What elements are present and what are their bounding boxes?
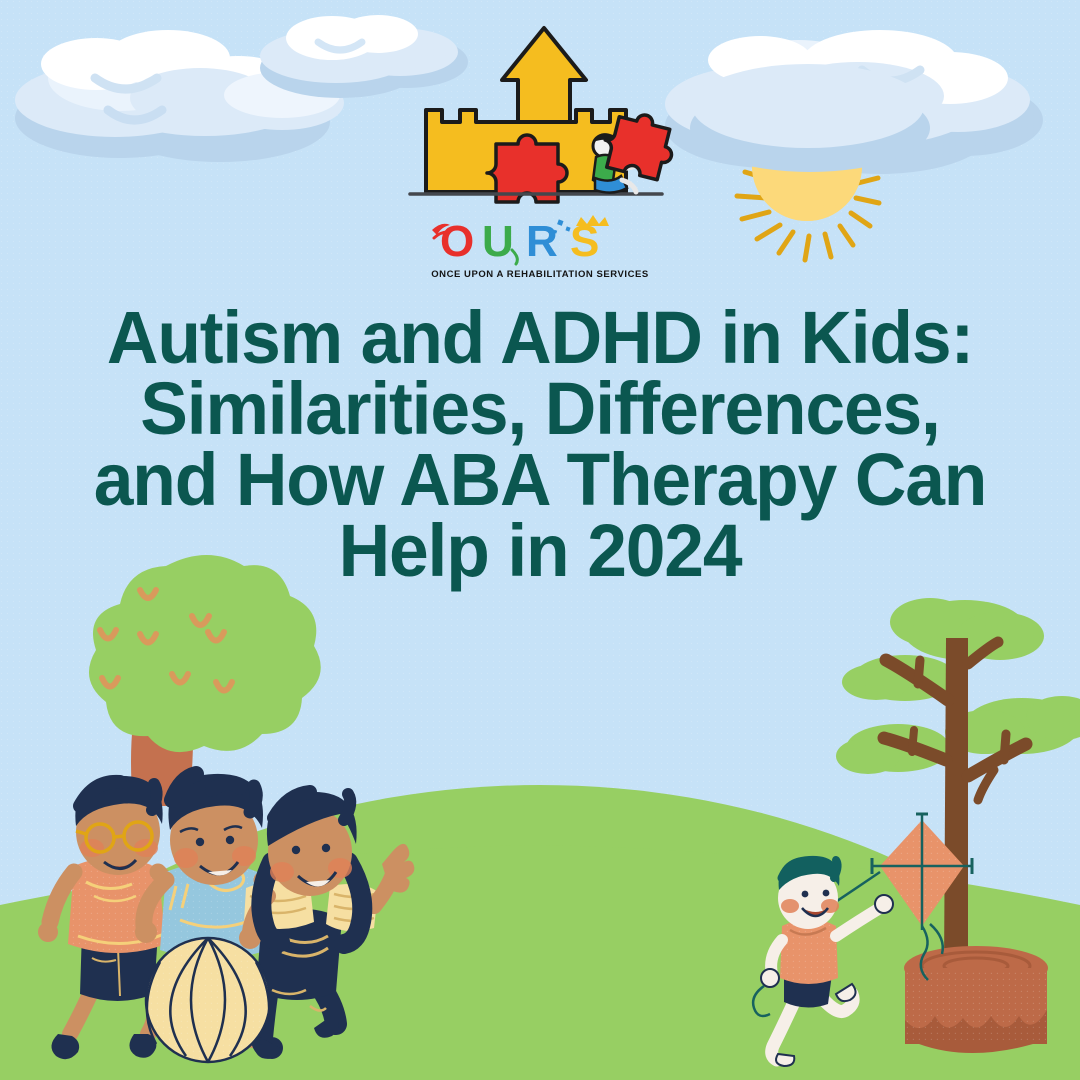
striped-ball <box>146 938 270 1062</box>
poster-canvas: O U R S ONCE UPON A REHABILITATION SERVI… <box>0 0 1080 1080</box>
tree-stump <box>904 946 1048 1053</box>
foreground-illustration <box>0 0 1080 1080</box>
tall-tree-right <box>836 598 1080 978</box>
child-kite-flyer <box>753 856 893 1066</box>
apple-tree-left <box>89 555 321 806</box>
